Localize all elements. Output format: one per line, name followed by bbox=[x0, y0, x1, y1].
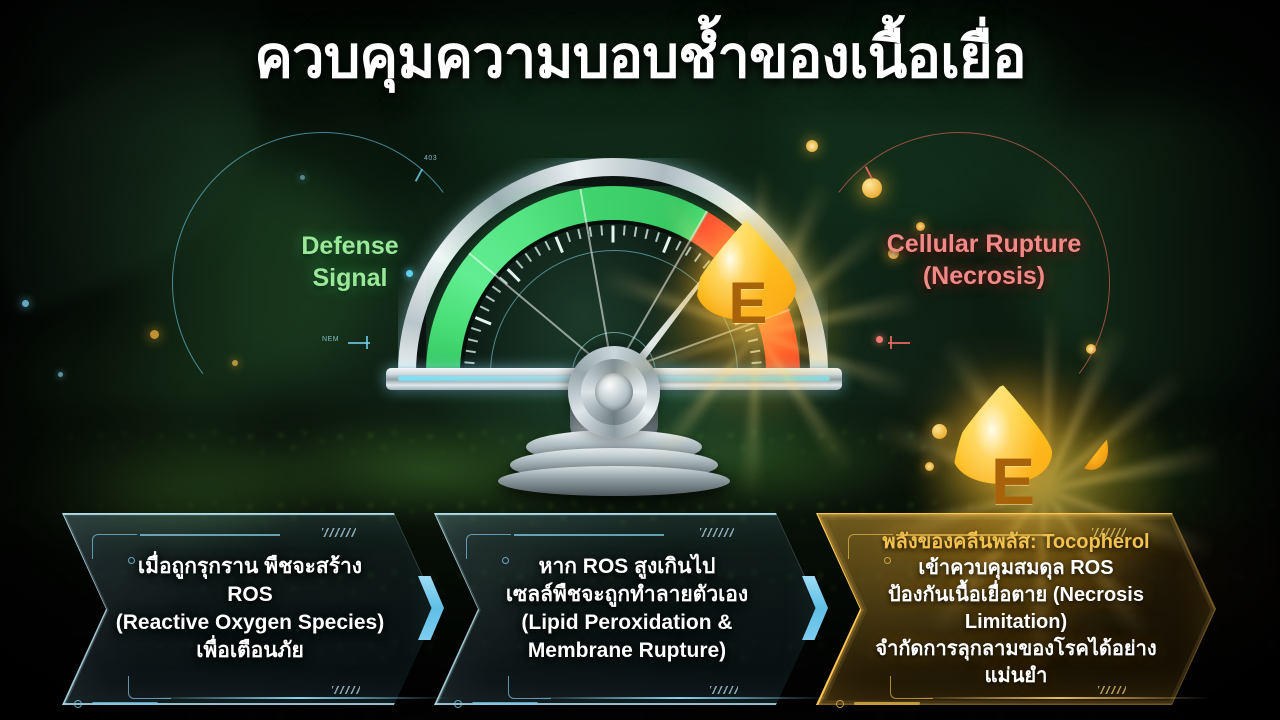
panel-line: หาก ROS สูงเกินไป bbox=[539, 553, 716, 581]
hud-corner-deco bbox=[466, 534, 511, 559]
gauge-tick bbox=[577, 229, 581, 239]
gauge-tick bbox=[475, 316, 492, 325]
gauge-tick bbox=[600, 225, 603, 235]
gauge-tick bbox=[499, 276, 508, 284]
gauge-tick bbox=[480, 305, 490, 311]
satellite-droplet bbox=[1074, 420, 1108, 470]
panel-line: เมื่อถูกรุกราน พืชจะสร้าง ROS bbox=[114, 553, 386, 609]
hud-dot-deco bbox=[836, 700, 844, 708]
hud-corner-deco bbox=[848, 534, 893, 559]
gauge-tick bbox=[485, 295, 495, 302]
satellite-droplet bbox=[1028, 338, 1050, 370]
defense-label-line-2: Signal bbox=[250, 262, 450, 294]
gauge-tick bbox=[555, 236, 564, 253]
hud-dot-deco bbox=[502, 557, 509, 564]
gauge-label-defense-signal: Defense Signal bbox=[250, 230, 450, 294]
process-flow-panels: เมื่อถูกรุกราน พืชจะสร้าง ROS (Reactive … bbox=[0, 513, 1280, 713]
hud-rail bbox=[530, 697, 830, 699]
hud-dot-deco bbox=[884, 557, 891, 564]
droplet-body bbox=[1028, 338, 1050, 370]
gauge-tick bbox=[566, 232, 571, 242]
hud-corner-deco bbox=[128, 676, 171, 699]
hud-hatch-deco bbox=[332, 686, 360, 694]
gauge-tick bbox=[507, 268, 521, 282]
hud-hatch-deco bbox=[700, 528, 734, 537]
panel-line: เพื่อเตือนภัย bbox=[196, 637, 304, 665]
gauge-tick bbox=[515, 260, 523, 269]
hud-tick-label: NEM bbox=[322, 336, 339, 343]
gauge-tick bbox=[534, 246, 541, 256]
panel-line: (Reactive Oxygen Species) bbox=[116, 609, 384, 637]
hud-line-deco bbox=[140, 534, 280, 536]
gauge-tick bbox=[525, 253, 532, 262]
gauge-tick bbox=[471, 327, 481, 332]
hud-line-deco bbox=[472, 702, 538, 705]
hud-dot-deco bbox=[454, 700, 462, 708]
page-title: ควบคุมความบอบช้ำของเนื้อเยื่อ bbox=[0, 28, 1280, 89]
hud-corner-deco bbox=[508, 676, 551, 699]
vitamin-e-droplet-gauge: E bbox=[696, 220, 800, 372]
hud-hatch-deco bbox=[710, 686, 738, 694]
panel-line: Membrane Rupture) bbox=[528, 637, 726, 665]
gauge-tick bbox=[492, 286, 501, 293]
hud-corner-deco bbox=[92, 534, 137, 559]
hud-rail bbox=[150, 697, 450, 699]
hud-line-deco bbox=[514, 534, 664, 536]
hud-dot-deco bbox=[128, 557, 135, 564]
gauge-tick bbox=[464, 361, 474, 364]
panel-line: เซลล์พืชจะถูกทำลายตัวเอง bbox=[506, 581, 748, 609]
hud-line-deco bbox=[92, 702, 158, 705]
hud-tick-label: 403 bbox=[424, 155, 437, 162]
defense-label-line-1: Defense bbox=[250, 230, 450, 262]
hud-hatch-deco bbox=[1098, 686, 1126, 694]
hud-dot-deco bbox=[74, 700, 82, 708]
panel-line: เข้าควบคุมสมดุล ROS bbox=[918, 555, 1113, 582]
hud-hatch-deco bbox=[322, 528, 356, 537]
hud-corner-deco bbox=[890, 676, 933, 699]
droplet-body bbox=[1074, 420, 1108, 470]
hud-line-deco bbox=[854, 702, 920, 705]
droplet-letter-e: E bbox=[696, 220, 800, 372]
panel-line: (Lipid Peroxidation & bbox=[521, 609, 732, 637]
gauge-tick bbox=[589, 227, 593, 237]
gauge-tick bbox=[466, 350, 476, 354]
hud-line-deco bbox=[896, 534, 1046, 536]
gauge-tick bbox=[544, 241, 550, 251]
gauge-tick bbox=[468, 338, 478, 342]
panel-line: ป้องกันเนื้อเยื่อตาย (Necrosis Limitatio… bbox=[868, 582, 1164, 636]
hud-rail bbox=[910, 697, 1210, 699]
infographic-canvas: ควบคุมความบอบช้ำของเนื้อเยื่อ bbox=[0, 0, 1280, 720]
hud-hatch-deco bbox=[1092, 528, 1126, 537]
gauge-tick bbox=[612, 226, 615, 243]
